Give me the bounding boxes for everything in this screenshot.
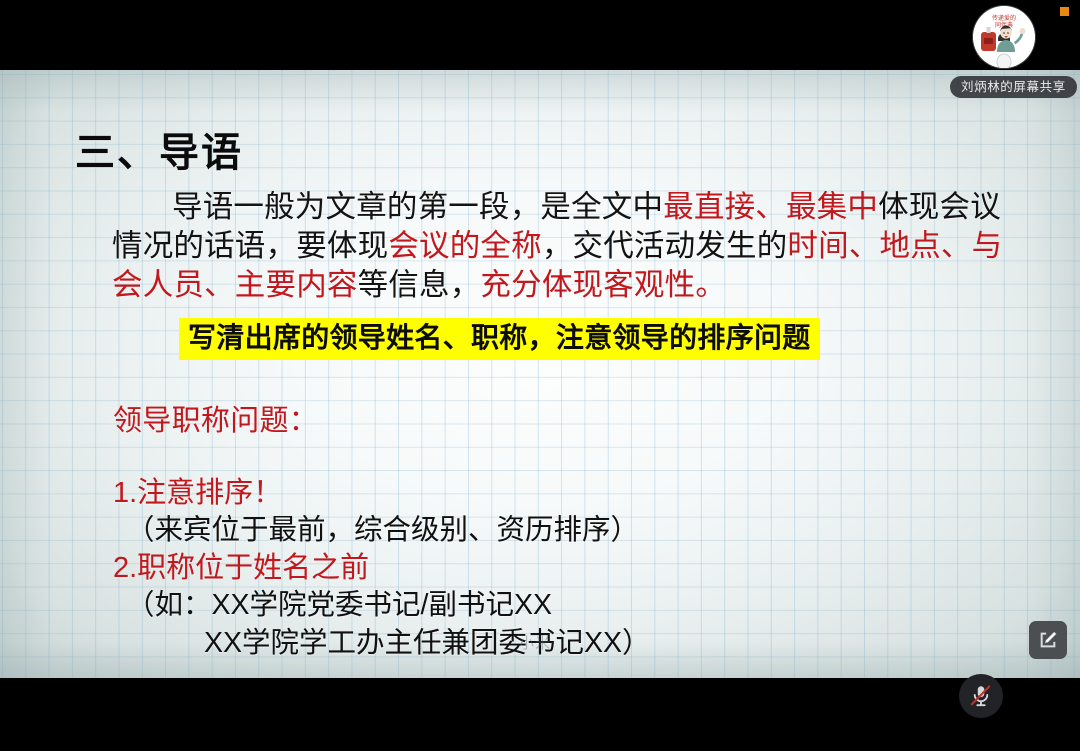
screen-share-window: 三、导语 导语一般为文章的第一段，是全文中最直接、最集中体现会议情况的话语，要体… — [0, 0, 1080, 751]
list-item-2-note-line1: （如：XX学院党委书记/副书记XX — [126, 582, 552, 623]
screen-share-label: 刘炳林的屏幕共享 — [950, 76, 1077, 98]
paragraph-seg-2: 最直接、最集中 — [663, 190, 878, 224]
avatar-illustration-icon: 传递爱的 同伴典 — [973, 6, 1035, 68]
slide-paragraph: 导语一般为文章的第一段，是全文中最直接、最集中体现会议情况的话语，要体现会议的全… — [112, 188, 1022, 305]
list-item-2-note-line2: XX学院学工办主任兼团委书记XX） — [204, 620, 651, 661]
paragraph-seg-8: 充分体现客观性。 — [480, 268, 726, 302]
slide-content: 三、导语 导语一般为文章的第一段，是全文中最直接、最集中体现会议情况的话语，要体… — [0, 70, 1080, 678]
paragraph-seg-7: 等信息， — [358, 268, 481, 302]
paragraph-seg-5: ，交代活动发生的 — [542, 229, 788, 263]
paragraph-seg-4: 会议的全称 — [388, 229, 542, 263]
avatar[interactable]: 传递爱的 同伴典 — [973, 6, 1035, 68]
microphone-button[interactable] — [959, 674, 1003, 718]
paragraph-seg-1: 导语一般为文章的第一段，是全文中 — [172, 190, 663, 224]
shared-slide-area: 三、导语 导语一般为文章的第一段，是全文中最直接、最集中体现会议情况的话语，要体… — [0, 70, 1080, 678]
list-item-1-note: （来宾位于最前，综合级别、资历排序） — [126, 507, 639, 548]
pencil-annotate-icon — [1037, 629, 1059, 651]
slide-heading: 三、导语 — [75, 120, 243, 178]
svg-text:传递爱的: 传递爱的 — [992, 14, 1016, 22]
highlighted-note: 写清出席的领导姓名、职称，注意领导的排序问题 — [179, 318, 820, 360]
sub-section-label: 领导职称问题： — [113, 397, 318, 439]
microphone-muted-icon — [968, 683, 994, 709]
list-item-2: 2.职称位于姓名之前 — [113, 544, 369, 586]
recording-dot-icon — [1060, 7, 1069, 16]
annotate-button[interactable] — [1029, 621, 1067, 659]
list-item-1: 1.注意排序！ — [113, 469, 282, 511]
